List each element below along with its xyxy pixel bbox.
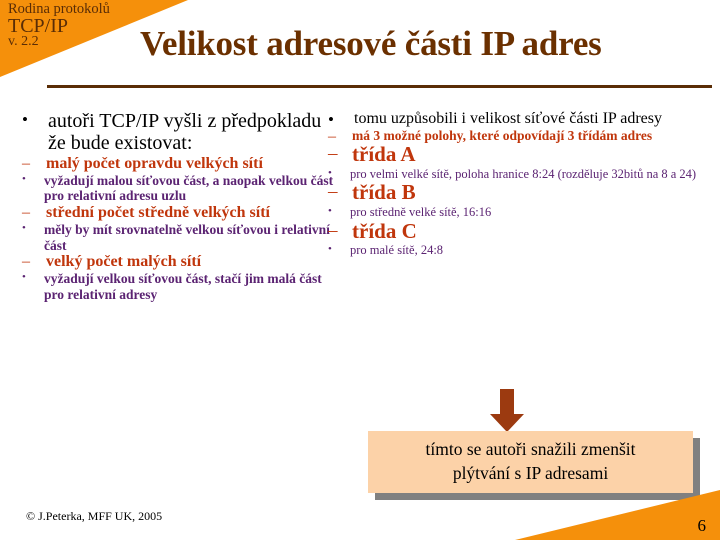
callout-line-1: tímto se autoři snažili zmenšit — [426, 438, 636, 462]
content-column-left: • autoři TCP/IP vyšli z předpokladu že b… — [22, 110, 342, 302]
bullet-dot-icon: • — [22, 110, 42, 130]
list-item-label: velký počet malých sítí — [46, 253, 342, 271]
callout-line-2: plýtvání s IP adresami — [453, 462, 608, 486]
bullet-dash-icon: – — [22, 253, 40, 271]
list-item-label: třída B — [352, 181, 708, 205]
bullet-dot-icon: • — [22, 222, 38, 235]
list-item-label: vyžadují malou síťovou část, a naopak ve… — [44, 173, 342, 204]
list-item-class-b: – třída B — [328, 181, 708, 205]
bullet-dash-icon: – — [22, 155, 40, 173]
list-item-class-c: – třída C — [328, 220, 708, 244]
bullet-dot-icon: • — [22, 271, 38, 284]
list-item: • tomu uzpůsobili i velikost síťové část… — [328, 110, 708, 128]
list-item-label: má 3 možné polohy, které odpovídají 3 tř… — [352, 128, 708, 143]
page-title: Velikost adresové části IP adres — [140, 24, 715, 64]
bullet-dot-icon: • — [328, 167, 344, 180]
bullet-dot-icon: • — [328, 205, 344, 218]
list-item-class-a: – třída A — [328, 143, 708, 167]
title-divider — [47, 85, 712, 88]
bullet-dash-icon: – — [22, 204, 40, 222]
list-item: – má 3 možné polohy, které odpovídají 3 … — [328, 128, 708, 143]
list-item-label: malý počet opravdu velkých sítí — [46, 155, 342, 173]
bullet-dash-icon: – — [328, 220, 346, 241]
list-item: – velký počet malých sítí — [22, 253, 342, 271]
list-item: • pro velmi velké sítě, poloha hranice 8… — [328, 167, 708, 182]
down-arrow-icon — [487, 389, 527, 433]
slide-canvas: Rodina protokolů TCP/IP v. 2.2 Velikost … — [0, 0, 720, 540]
list-item: – malý počet opravdu velkých sítí — [22, 155, 342, 173]
list-item-label: střední počet středně velkých sítí — [46, 204, 342, 222]
list-item: • vyžadují velkou síťovou část, stačí ji… — [22, 271, 342, 302]
slide-kicker: Rodina protokolů TCP/IP v. 2.2 — [8, 2, 186, 49]
bullet-dash-icon: – — [328, 143, 346, 164]
callout-box: tímto se autoři snažili zmenšit plýtvání… — [368, 431, 693, 493]
bullet-dot-icon: • — [328, 243, 344, 256]
list-item-label: tomu uzpůsobili i velikost síťové části … — [354, 110, 708, 128]
list-item-label: měly by mít srovnatelně velkou síťovou i… — [44, 222, 342, 253]
list-item: • vyžadují malou síťovou část, a naopak … — [22, 173, 342, 204]
list-item-label: pro malé sítě, 24:8 — [350, 243, 708, 258]
list-item-label: autoři TCP/IP vyšli z předpokladu že bud… — [48, 110, 342, 155]
list-item: • pro středně velké sítě, 16:16 — [328, 205, 708, 220]
bullet-dash-icon: – — [328, 181, 346, 202]
corner-decoration-bottom-right — [515, 490, 720, 540]
kicker-line-3: v. 2.2 — [8, 35, 186, 49]
footer-credit: © J.Peterka, MFF UK, 2005 — [26, 509, 162, 524]
list-item: – střední počet středně velkých sítí — [22, 204, 342, 222]
bullet-list-left: • autoři TCP/IP vyšli z předpokladu že b… — [22, 110, 342, 302]
list-item-label: pro velmi velké sítě, poloha hranice 8:2… — [350, 167, 708, 182]
list-item: • pro malé sítě, 24:8 — [328, 243, 708, 258]
bullet-dot-icon: • — [22, 173, 38, 186]
list-item-label: třída A — [352, 143, 708, 167]
page-number: 6 — [698, 516, 707, 536]
list-item: • autoři TCP/IP vyšli z předpokladu že b… — [22, 110, 342, 155]
list-item-label: vyžadují velkou síťovou část, stačí jim … — [44, 271, 342, 302]
list-item-label: třída C — [352, 220, 708, 244]
list-item-label: pro středně velké sítě, 16:16 — [350, 205, 708, 220]
list-item: • měly by mít srovnatelně velkou síťovou… — [22, 222, 342, 253]
kicker-line-2: TCP/IP — [8, 16, 186, 36]
bullet-list-right: • tomu uzpůsobili i velikost síťové část… — [328, 110, 708, 258]
content-column-right: • tomu uzpůsobili i velikost síťové část… — [328, 110, 708, 258]
